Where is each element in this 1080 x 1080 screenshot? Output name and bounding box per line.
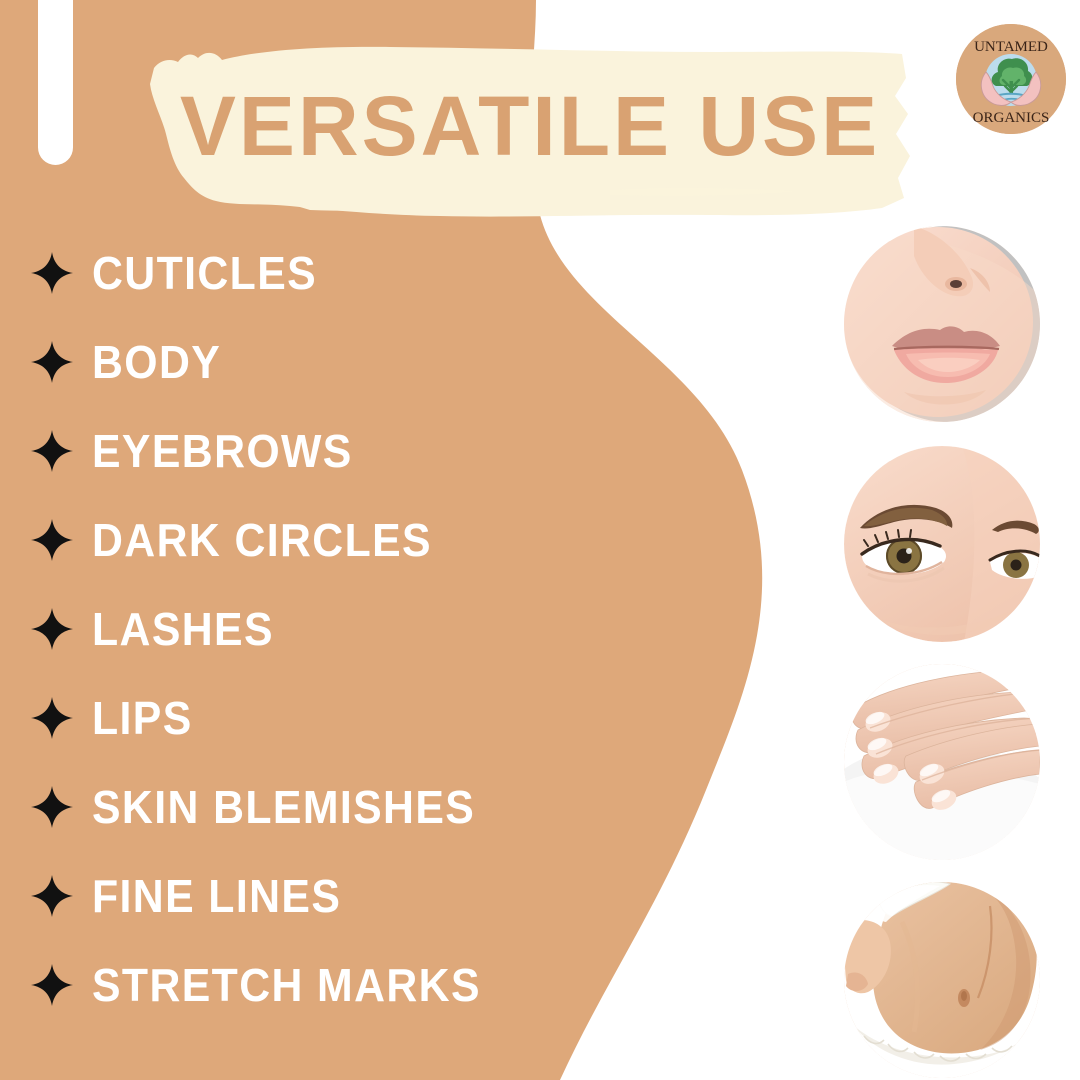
four-point-star-icon [30,518,74,562]
list-item-label: EYEBROWS [92,428,353,474]
lips-closeup-photo[interactable] [844,226,1040,422]
logo-top-text: UNTAMED [974,39,1048,55]
list-item-label: BODY [92,339,221,385]
four-point-star-icon [30,963,74,1007]
hands-nails-photo[interactable] [844,664,1040,860]
list-item-label: SKIN BLEMISHES [92,784,475,830]
accent-pill-bar [38,0,73,165]
four-point-star-icon [30,607,74,651]
list-item[interactable]: CUTICLES [30,228,550,317]
poster-canvas: VERSATILE USE UNTAMED ORGANICS [0,0,1080,1080]
four-point-star-icon [30,251,74,295]
list-item[interactable]: STRETCH MARKS [30,940,550,1029]
four-point-star-icon [30,874,74,918]
list-item[interactable]: LIPS [30,673,550,762]
torso-belly-photo[interactable] [844,882,1040,1078]
benefits-list: CUTICLES BODY EYEBROWS DARK CIRCLES LASH [30,228,550,1029]
list-item[interactable]: SKIN BLEMISHES [30,762,550,851]
list-item-label: DARK CIRCLES [92,517,432,563]
logo-emblem-icon: UNTAMED ORGANICS [956,24,1066,134]
brand-logo-badge[interactable]: UNTAMED ORGANICS [956,24,1066,134]
list-item[interactable]: DARK CIRCLES [30,495,550,584]
list-item[interactable]: FINE LINES [30,851,550,940]
four-point-star-icon [30,429,74,473]
list-item[interactable]: EYEBROWS [30,406,550,495]
list-item-label: CUTICLES [92,250,317,296]
four-point-star-icon [30,696,74,740]
list-item-label: FINE LINES [92,873,341,919]
four-point-star-icon [30,340,74,384]
list-item[interactable]: BODY [30,317,550,406]
list-item[interactable]: LASHES [30,584,550,673]
four-point-star-icon [30,785,74,829]
page-title: VERSATILE USE [170,84,890,168]
list-item-label: LASHES [92,606,274,652]
eyebrow-eye-photo[interactable] [844,446,1040,642]
logo-bottom-text: ORGANICS [973,110,1050,126]
list-item-label: STRETCH MARKS [92,962,481,1008]
title-banner: VERSATILE USE [140,38,915,223]
list-item-label: LIPS [92,695,193,741]
